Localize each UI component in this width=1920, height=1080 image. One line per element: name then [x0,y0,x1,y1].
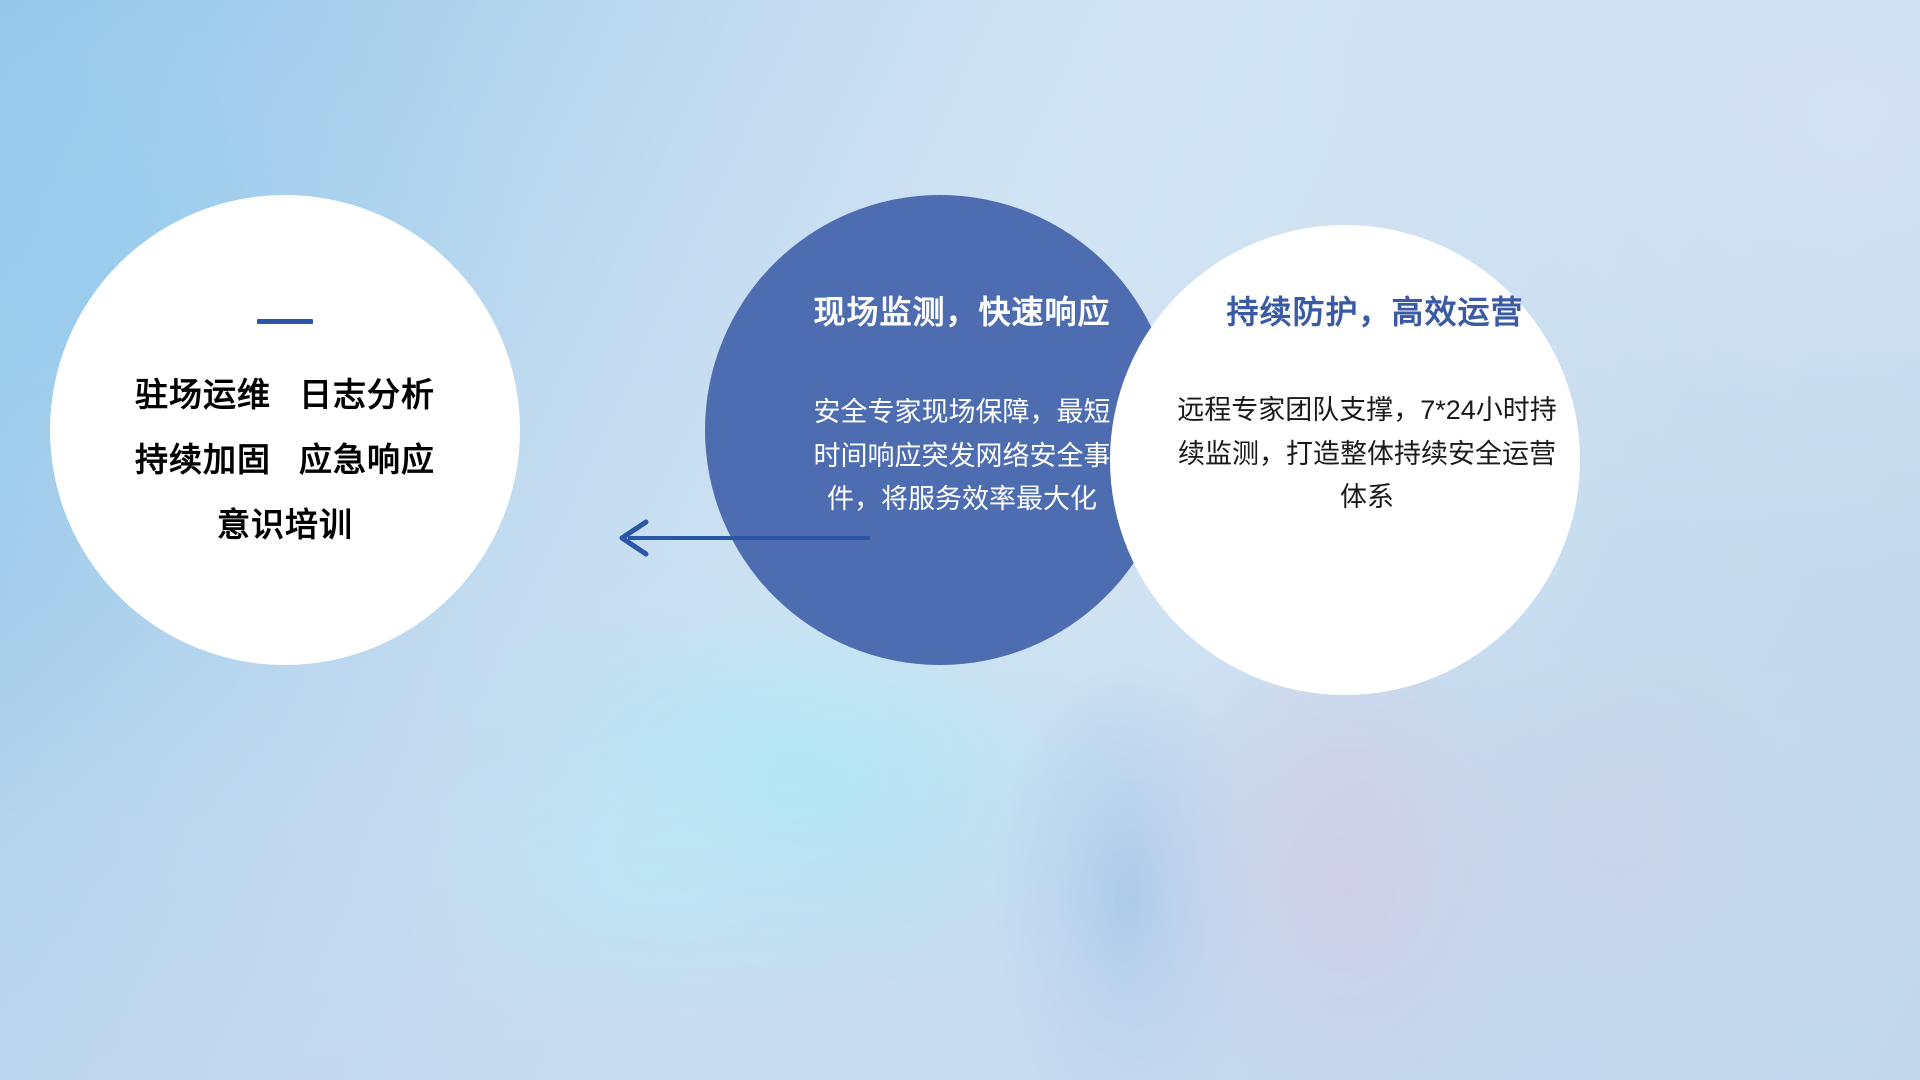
middle-circle-title: 现场监测，快速响应 [813,287,1110,333]
left-service-tag-3: 持续加固 [135,441,271,478]
left-service-tag-4: 应急响应 [299,441,435,478]
middle-circle-body: 安全专家现场保障，最短时间响应突发网络安全事件，将服务效率最大化 [812,391,1112,522]
right-circle-body: 远程专家团队支撑，7*24小时持续监测，打造整体持续安全运营体系 [1167,389,1567,520]
arrow-left-icon [600,518,870,558]
left-service-tag-5: 意识培训 [217,506,353,543]
middle-circle-content: 现场监测，快速响应 安全专家现场保障，最短时间响应突发网络安全事件，将服务效率最… [705,195,1175,665]
left-circle-line-1: 驻场运维日志分析 [135,378,435,411]
left-circle-content: 驻场运维日志分析 持续加固应急响应 意识培训 [50,195,520,665]
left-circle-line-2: 持续加固应急响应 [135,443,435,476]
divider-rule [257,319,313,324]
left-service-tag-2: 日志分析 [299,376,435,413]
slide-canvas: 驻场运维日志分析 持续加固应急响应 意识培训 现场监测，快速响应 安全专家现场保… [0,0,1920,1080]
right-circle-title: 持续防护，高效运营 [1226,287,1523,333]
left-circle-line-3: 意识培训 [217,508,353,541]
left-service-tag-1: 驻场运维 [135,376,271,413]
right-circle-content: 持续防护，高效运营 远程专家团队支撑，7*24小时持续监测，打造整体持续安全运营… [1110,225,1580,695]
